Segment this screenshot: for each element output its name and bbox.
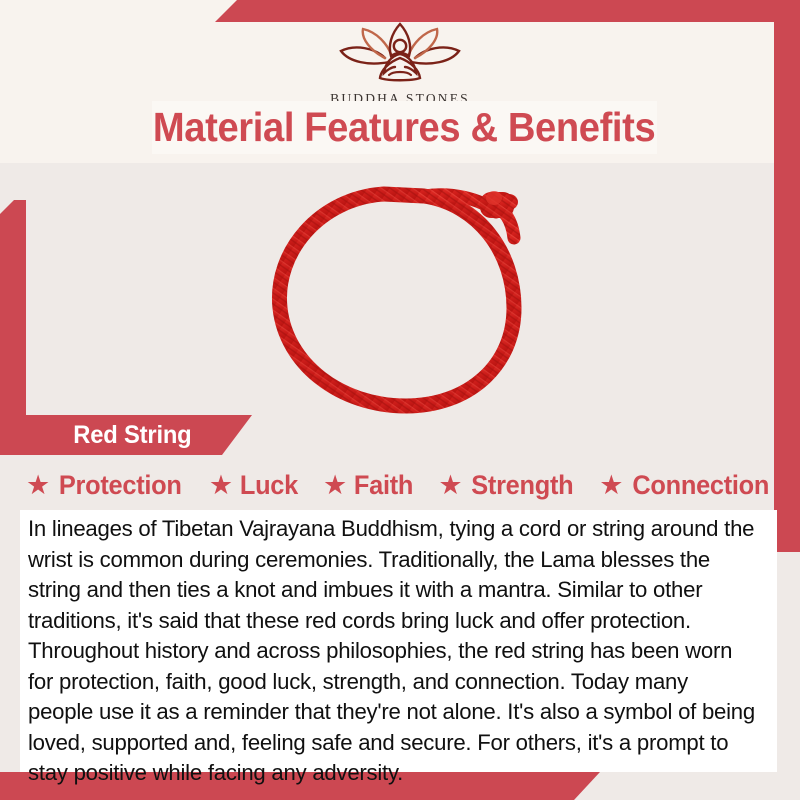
benefit-luck: ★ Luck (209, 470, 300, 501)
benefit-connection: ★ Connection (599, 470, 774, 501)
brand-logo: BUDDHA STONES (0, 18, 800, 107)
decor-bar-left (0, 200, 26, 438)
benefit-protection: ★ Protection (26, 470, 186, 501)
headline-band: Material Features & Benefits (152, 101, 657, 154)
star-icon: ★ (323, 472, 347, 499)
ribbon-label: Red String (5, 421, 192, 450)
infographic-page: BUDDHA STONES Material Features & Benefi… (0, 0, 800, 800)
benefit-strength: ★ Strength (438, 470, 576, 501)
description-panel: In lineages of Tibetan Vajrayana Buddhis… (20, 510, 777, 772)
product-ribbon: Red String (0, 415, 252, 455)
benefit-label: Strength (471, 470, 573, 501)
page-title: Material Features & Benefits (153, 104, 655, 151)
description-text: In lineages of Tibetan Vajrayana Buddhis… (28, 514, 758, 789)
lotus-meditation-icon (325, 18, 475, 90)
star-icon: ★ (438, 472, 462, 499)
star-icon: ★ (209, 472, 233, 499)
benefit-faith: ★ Faith (323, 470, 415, 501)
benefit-label: Faith (354, 470, 413, 501)
benefits-row: ★ Protection ★ Luck ★ Faith ★ Strength ★… (26, 466, 774, 504)
star-icon: ★ (599, 472, 623, 499)
star-icon: ★ (26, 472, 50, 499)
product-image-red-string-bracelet (228, 168, 573, 418)
benefit-label: Connection (633, 470, 770, 501)
benefit-label: Luck (240, 470, 298, 501)
benefit-label: Protection (59, 470, 182, 501)
